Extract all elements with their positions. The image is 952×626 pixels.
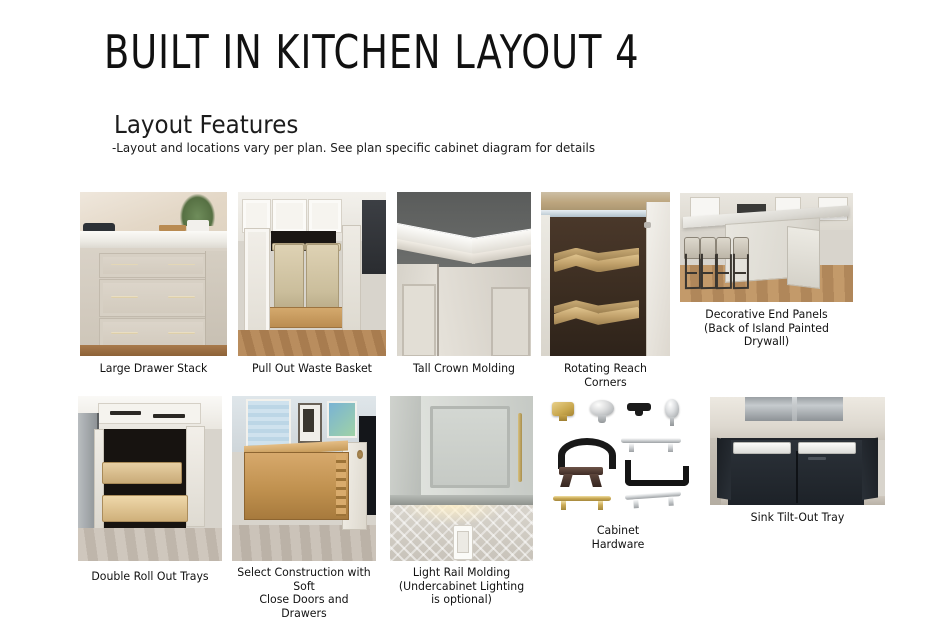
sink-tilt-out-tray-photo: [710, 397, 885, 505]
light-rail-molding-photo: [390, 396, 533, 561]
cabinet-hardware-photo: [545, 396, 691, 516]
tall-crown-molding-photo: [397, 192, 531, 356]
arch-pull-black-icon: [558, 438, 616, 459]
feature-caption: Sink Tilt-Out Tray: [714, 511, 880, 525]
teardrop-knob-chrome-icon: [665, 399, 679, 418]
rotating-reach-corner-photo: [541, 192, 670, 356]
feature-tile-tall-crown-molding[interactable]: Tall Crown Molding: [397, 192, 531, 382]
feature-tile-rotating-reach-corners[interactable]: Rotating Reach Corners: [541, 192, 670, 382]
kitchen-drawer-stack-photo: [80, 192, 227, 356]
feature-tile-light-rail-molding[interactable]: Light Rail Molding (Undercabinet Lightin…: [390, 396, 533, 596]
u-pull-black-icon: [625, 466, 689, 486]
feature-caption: Double Roll Out Trays: [82, 570, 219, 584]
t-knob-black-icon: [627, 403, 651, 411]
feature-tile-cabinet-hardware[interactable]: Cabinet Hardware: [545, 396, 691, 596]
feature-caption: Select Construction with Soft Close Door…: [236, 566, 373, 620]
bar-pull-chrome-icon: [621, 438, 681, 443]
feature-caption: Cabinet Hardware: [549, 524, 688, 551]
feature-tile-pull-out-waste-basket[interactable]: Pull Out Waste Basket: [238, 192, 386, 382]
feature-caption: Tall Crown Molding: [400, 362, 527, 376]
bar-stool: [715, 237, 731, 287]
decorative-end-panels-photo: [680, 193, 853, 302]
angular-pull-bronze-icon: [559, 467, 603, 475]
page-title: BUILT IN KITCHEN LAYOUT 4: [104, 28, 640, 76]
feature-caption: Pull Out Waste Basket: [242, 362, 383, 376]
feature-tile-decorative-end-panels[interactable]: Decorative End Panels (Back of Island Pa…: [680, 193, 853, 333]
feature-caption: Decorative End Panels (Back of Island Pa…: [684, 308, 848, 349]
square-knob-gold-icon: [552, 402, 574, 416]
feature-tile-sink-tilt-out-tray[interactable]: Sink Tilt-Out Tray: [710, 397, 885, 537]
feature-caption: Rotating Reach Corners: [544, 362, 667, 389]
pull-out-waste-basket-photo: [238, 192, 386, 356]
u-pull-stem-icon: [625, 460, 631, 468]
drawer-box-construction-photo: [232, 396, 376, 561]
bar-stool: [699, 237, 715, 287]
section-heading: Layout Features: [114, 110, 298, 139]
feature-caption: Large Drawer Stack: [84, 362, 224, 376]
feature-tile-select-construction[interactable]: Select Construction with Soft Close Door…: [232, 396, 376, 596]
feature-caption: Light Rail Molding (Undercabinet Lightin…: [394, 566, 530, 607]
bar-stool: [683, 237, 699, 287]
feature-tile-large-drawer-stack[interactable]: Large Drawer Stack: [80, 192, 227, 382]
double-roll-out-trays-photo: [78, 396, 222, 561]
bar-stool: [732, 237, 748, 287]
section-subheading: -Layout and locations vary per plan. See…: [112, 140, 595, 155]
round-knob-nickel-icon: [590, 400, 614, 416]
bar-pull-gold-icon: [553, 496, 611, 501]
bar-pull-chrome-2-icon: [625, 491, 681, 500]
feature-tile-double-roll-out-trays[interactable]: Double Roll Out Trays: [78, 396, 222, 596]
